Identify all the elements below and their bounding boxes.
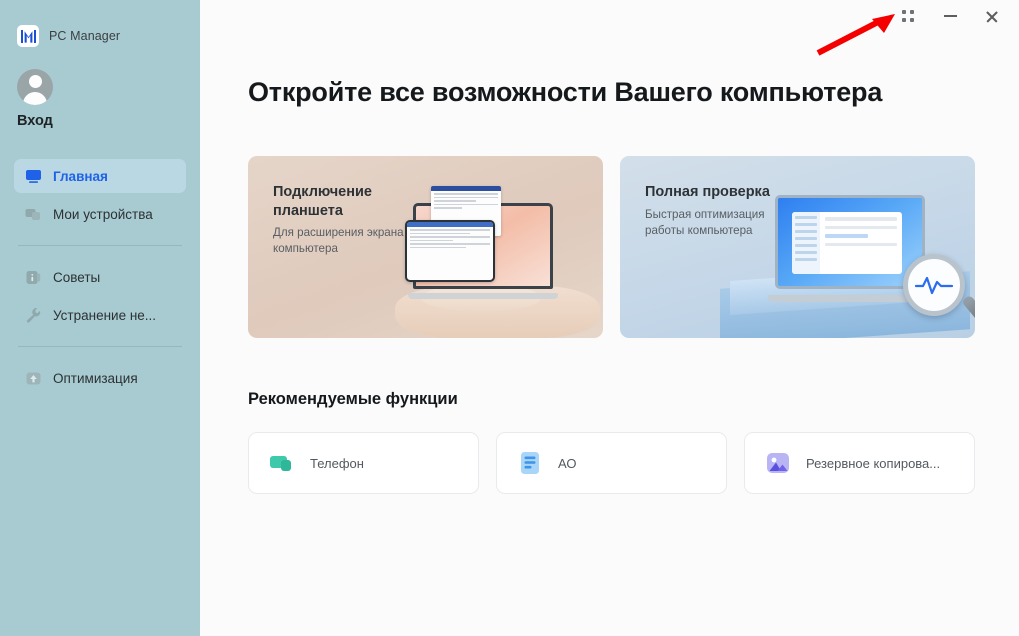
monitor-icon <box>24 167 42 185</box>
promo-subtitle: Быстрая оптимизация работы компьютера <box>645 207 795 239</box>
app-brand: PC Manager <box>0 0 200 47</box>
main-content: Откройте все возможности Вашего компьюте… <box>200 0 1019 636</box>
nav-group-secondary: Советы Устранение не... <box>0 260 200 332</box>
sidebar-item-boost[interactable]: Оптимизация <box>14 361 186 395</box>
promo-cards: Подключение планшета Для расширения экра… <box>248 156 975 338</box>
sidebar: PC Manager Вход Главная <box>0 0 200 636</box>
document-icon <box>516 449 544 477</box>
promo-title: Полная проверка <box>645 183 785 202</box>
app-grid-icon[interactable] <box>887 2 929 30</box>
phone-icon <box>268 449 296 477</box>
sidebar-item-tips[interactable]: Советы <box>14 260 186 294</box>
user-avatar-icon[interactable] <box>17 69 53 105</box>
tile-phone[interactable]: Телефон <box>248 432 479 494</box>
sidebar-item-boost-label: Оптимизация <box>53 371 138 386</box>
window-titlebar <box>200 0 1019 30</box>
tile-backup[interactable]: Резервное копирова... <box>744 432 975 494</box>
content-area: Откройте все возможности Вашего компьюте… <box>200 77 1019 494</box>
recommended-tiles: Телефон АО <box>248 432 975 494</box>
promo-card-tablet-connect[interactable]: Подключение планшета Для расширения экра… <box>248 156 603 338</box>
sidebar-item-my-devices-label: Мои устройства <box>53 207 153 222</box>
promo-text-block: Полная проверка Быстрая оптимизация рабо… <box>645 183 795 239</box>
boost-arrow-icon <box>24 369 42 387</box>
sidebar-item-troubleshoot-label: Устранение не... <box>53 308 156 323</box>
sidebar-divider-2 <box>18 346 182 347</box>
pc-manager-logo-icon <box>17 25 39 47</box>
tile-phone-label: Телефон <box>310 456 364 471</box>
close-icon[interactable] <box>971 2 1013 30</box>
devices-icon <box>24 205 42 223</box>
sidebar-item-my-devices[interactable]: Мои устройства <box>14 197 186 231</box>
tile-ao[interactable]: АО <box>496 432 727 494</box>
promo-title: Подключение планшета <box>273 183 413 220</box>
account-section[interactable]: Вход <box>0 47 200 129</box>
minimize-icon[interactable] <box>929 2 971 30</box>
sidebar-nav: Главная Мои устройства <box>0 159 200 395</box>
section-title-recommended: Рекомендуемые функции <box>248 390 975 409</box>
nav-group-primary: Главная Мои устройства <box>0 159 200 231</box>
sidebar-divider-1 <box>18 245 182 246</box>
promo-card-full-checkup[interactable]: Полная проверка Быстрая оптимизация рабо… <box>620 156 975 338</box>
promo-subtitle: Для расширения экрана компьютера <box>273 225 423 257</box>
sidebar-item-home[interactable]: Главная <box>14 159 186 193</box>
sidebar-item-tips-label: Советы <box>53 270 100 285</box>
sign-in-label[interactable]: Вход <box>17 113 200 129</box>
wrench-icon <box>24 306 42 324</box>
image-backup-icon <box>764 449 792 477</box>
nav-group-tertiary: Оптимизация <box>0 361 200 395</box>
magnifier-pulse-icon <box>903 254 965 316</box>
sidebar-item-home-label: Главная <box>53 169 108 184</box>
promo-text-block: Подключение планшета Для расширения экра… <box>273 183 423 257</box>
page-title: Откройте все возможности Вашего компьюте… <box>248 77 975 108</box>
sidebar-item-troubleshoot[interactable]: Устранение не... <box>14 298 186 332</box>
tile-ao-label: АО <box>558 456 577 471</box>
app-name: PC Manager <box>49 29 120 43</box>
info-icon <box>24 268 42 286</box>
tile-backup-label: Резервное копирова... <box>806 456 940 471</box>
